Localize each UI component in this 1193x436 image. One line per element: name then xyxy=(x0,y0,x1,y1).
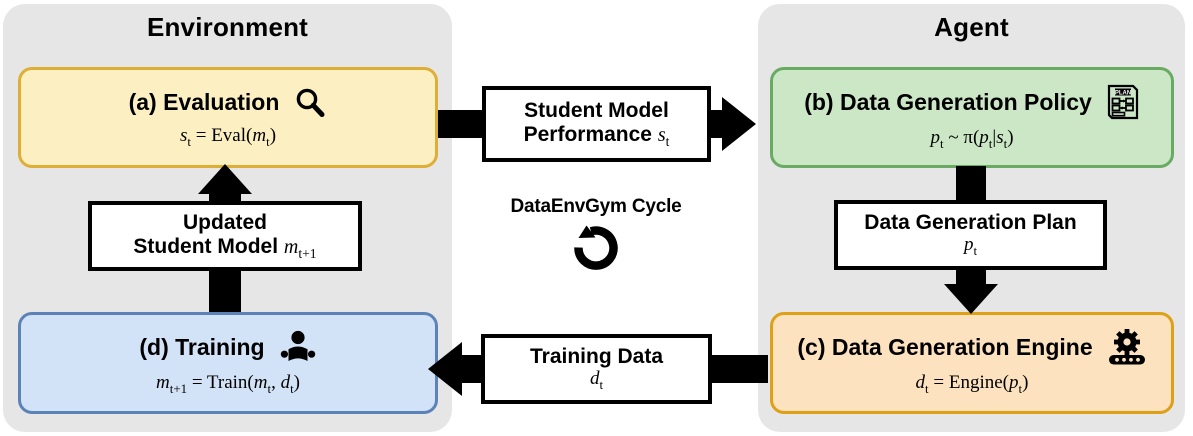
cycle-group: DataEnvGym Cycle xyxy=(476,196,716,275)
environment-panel-title: Environment xyxy=(3,12,452,43)
node-data-generation-engine[interactable]: (c) Data Generation Engine xyxy=(770,312,1174,414)
edge-box-updated-line1: Updated xyxy=(183,211,267,235)
node-training-title: (d) Training xyxy=(139,335,264,360)
node-engine-header: (c) Data Generation Engine xyxy=(797,329,1146,367)
arrow-tdata-to-training-head xyxy=(428,342,462,396)
edge-box-updated-line2: Student Model mt+1 xyxy=(133,235,316,261)
node-evaluation[interactable]: (a) Evaluation st = Eval(mt) xyxy=(18,67,438,168)
person-reading-icon xyxy=(279,329,317,367)
node-engine-equation: dt = Engine(pt) xyxy=(916,372,1029,397)
diagram-canvas: Environment Agent (a) Evaluation xyxy=(0,0,1193,436)
edge-box-perf-line1: Student Model xyxy=(524,99,669,123)
edge-box-perf-symbol: st xyxy=(658,124,670,146)
arrow-plan-to-engine-head xyxy=(944,284,998,314)
arrow-engine-to-tdata-shaft xyxy=(706,355,768,383)
node-evaluation-header: (a) Evaluation xyxy=(129,86,328,120)
agent-panel-title: Agent xyxy=(758,12,1185,43)
node-policy-header: (b) Data Generation Policy PLAN xyxy=(804,84,1140,122)
node-policy-title: (b) Data Generation Policy xyxy=(804,90,1092,115)
edge-box-perf-line2-text: Performance xyxy=(524,123,652,146)
edge-box-updated-student-model[interactable]: Updated Student Model mt+1 xyxy=(88,201,362,271)
edge-box-tdata-line1: Training Data xyxy=(530,345,663,369)
edge-box-perf-line2: Performance st xyxy=(524,123,670,149)
circular-refresh-icon xyxy=(476,221,716,275)
node-engine-title: (c) Data Generation Engine xyxy=(797,335,1092,360)
gear-conveyor-icon xyxy=(1107,329,1147,367)
node-training-header: (d) Training xyxy=(139,329,316,367)
arrow-updated-to-eval-head xyxy=(198,164,252,194)
edge-box-data-generation-plan[interactable]: Data Generation Plan pt xyxy=(834,200,1107,270)
edge-box-tdata-symbol: dt xyxy=(590,368,603,393)
arrow-perf-to-policy-head xyxy=(722,97,756,151)
edge-box-updated-line2-text: Student Model xyxy=(133,235,278,258)
edge-box-plan-symbol: pt xyxy=(964,234,977,259)
svg-text:PLAN: PLAN xyxy=(1115,90,1131,96)
node-evaluation-title: (a) Evaluation xyxy=(129,90,280,115)
cycle-label: DataEnvGym Cycle xyxy=(476,196,716,218)
edge-box-plan-line1: Data Generation Plan xyxy=(864,211,1076,235)
node-training[interactable]: (d) Training mt+1 = Train(mt, dt) xyxy=(18,312,438,414)
node-data-generation-policy[interactable]: (b) Data Generation Policy PLAN xyxy=(770,67,1174,168)
edge-box-student-model-performance[interactable]: Student Model Performance st xyxy=(482,86,711,162)
edge-box-updated-symbol: mt+1 xyxy=(284,236,317,258)
arrow-training-to-updated-shaft xyxy=(209,264,241,312)
node-evaluation-equation: st = Eval(mt) xyxy=(180,125,276,150)
magnifier-icon xyxy=(293,86,327,120)
plan-document-icon: PLAN xyxy=(1106,84,1140,122)
edge-box-training-data[interactable]: Training Data dt xyxy=(481,334,712,404)
node-training-equation: mt+1 = Train(mt, dt) xyxy=(156,372,300,397)
node-policy-equation: pt ~ π(pt|st) xyxy=(930,127,1013,152)
